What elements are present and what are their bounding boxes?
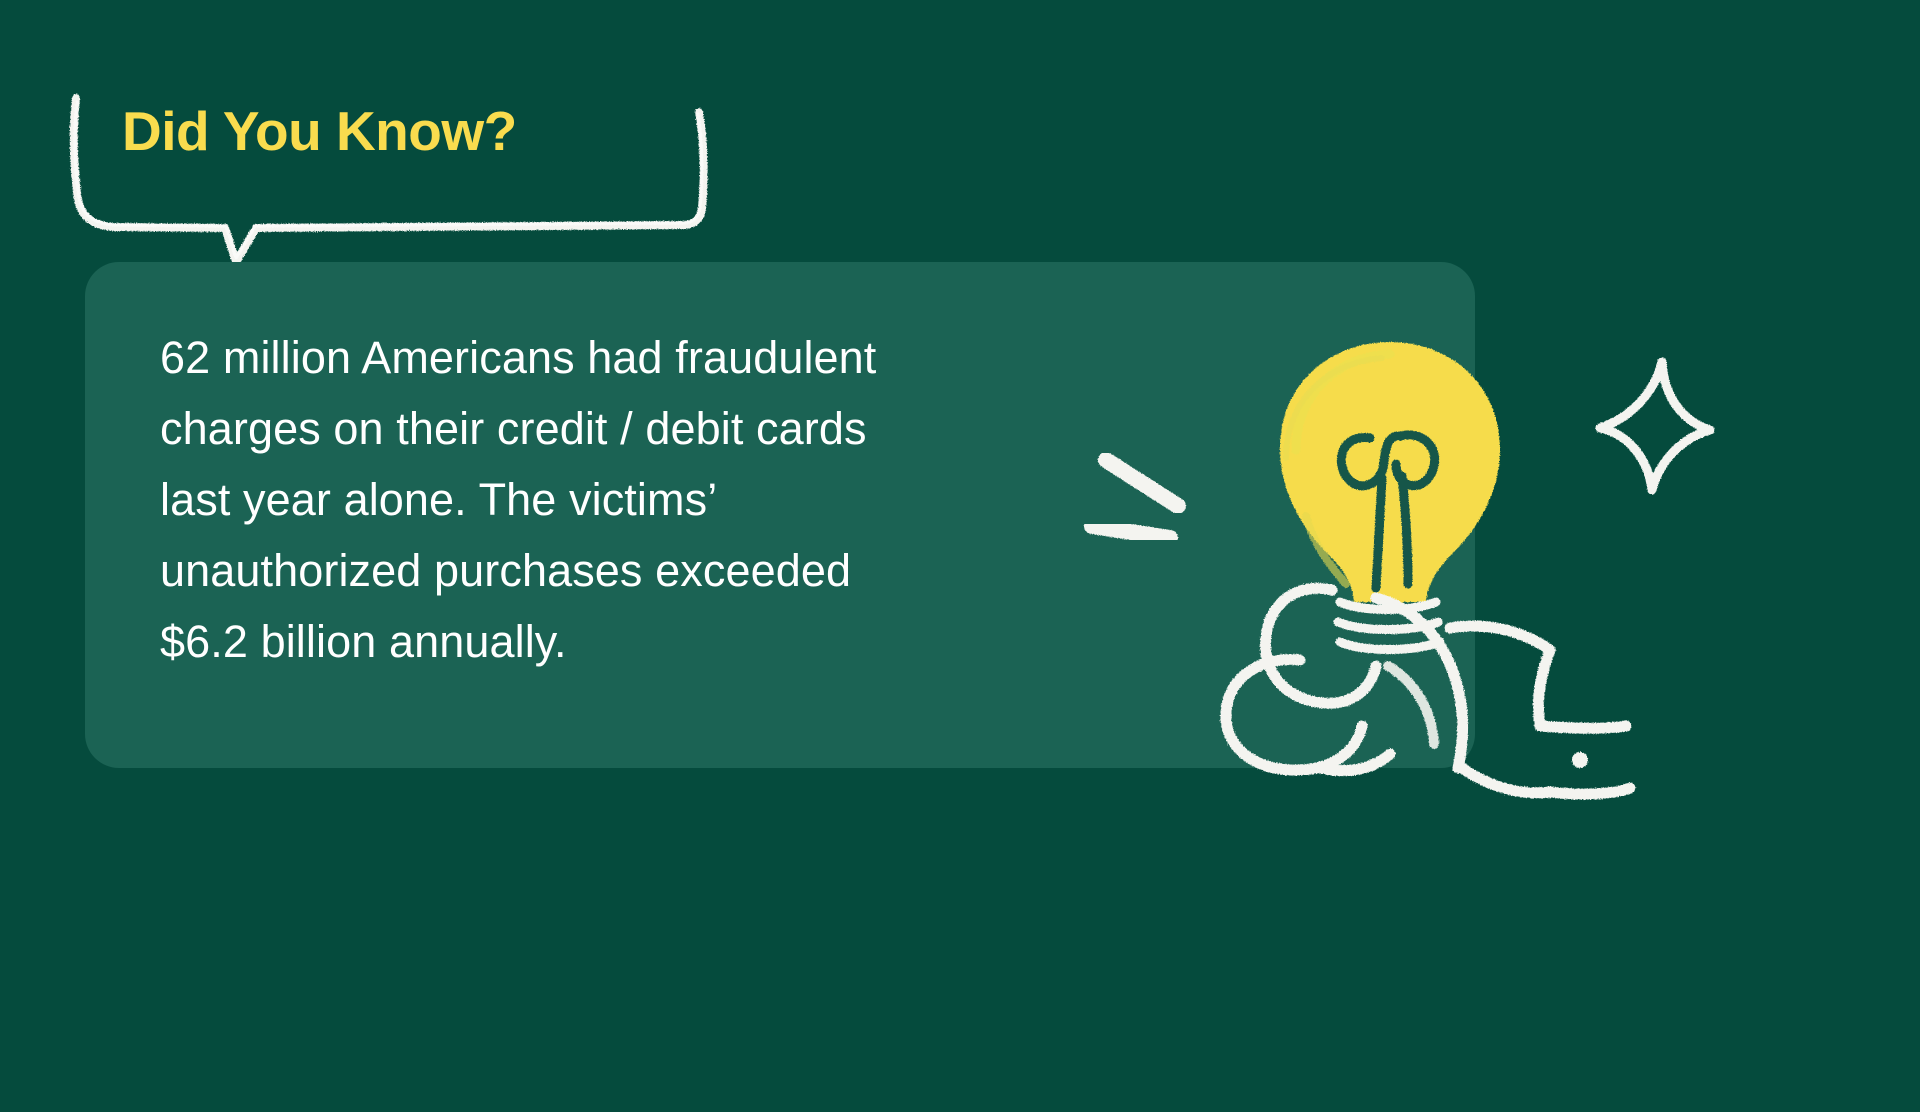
fact-card: 62 million Americans had fraudulent char… bbox=[85, 262, 1475, 768]
fact-line: 62 million Americans had fraudulent bbox=[160, 322, 1060, 393]
page-title: Did You Know? bbox=[122, 103, 517, 161]
fact-line: $6.2 billion annually. bbox=[160, 606, 1060, 677]
fact-line: charges on their credit / debit cards bbox=[160, 393, 1060, 464]
shirt-cuff bbox=[1450, 626, 1630, 794]
sparkle-star bbox=[1600, 362, 1710, 490]
slide-canvas: Did You Know? 62 million Americans had f… bbox=[0, 0, 1920, 1112]
cuff-button bbox=[1572, 752, 1588, 768]
fact-line: unauthorized purchases exceeded bbox=[160, 535, 1060, 606]
fact-line: last year alone. The victims’ bbox=[160, 464, 1060, 535]
fact-body-text: 62 million Americans had fraudulent char… bbox=[160, 322, 1060, 677]
